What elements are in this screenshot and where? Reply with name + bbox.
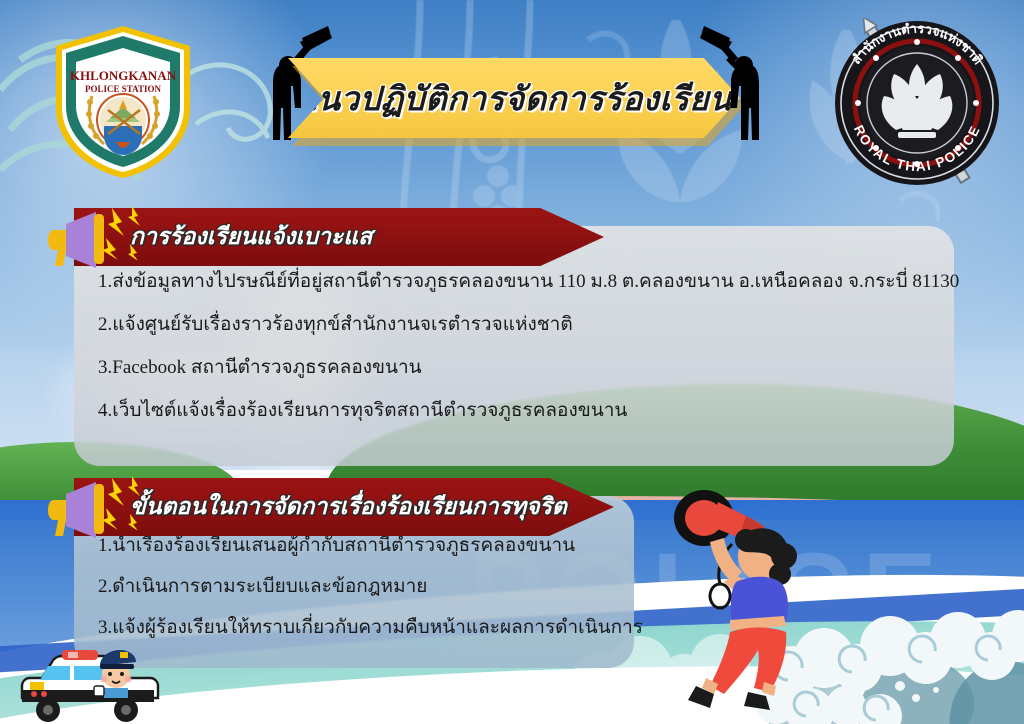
section-heading-ribbon-2: ขั้นตอนในการจัดการเรื่องร้องเรียนการทุจร… bbox=[74, 478, 614, 536]
badge-left-line1: KHLONGKANAN bbox=[70, 68, 177, 83]
poster-root: POLICE bbox=[0, 0, 1024, 724]
badge-left-line2: POLICE STATION bbox=[85, 84, 161, 94]
title-banner: แนวปฏิบัติการจัดการร้องเรียน bbox=[288, 58, 740, 138]
list-item: 2.แจ้งศูนย์รับเรื่องราวร้องทุกข์สำนักงาน… bbox=[98, 315, 926, 334]
woman-shouting-megaphone-illustration bbox=[648, 486, 848, 724]
list-item: 1.นำเรื่องร้องเรียนเสนอผู้กำกับสถานีตำรว… bbox=[98, 536, 606, 555]
section-heading-ribbon-1: การร้องเรียนแจ้งเบาะแส bbox=[74, 208, 604, 266]
section-heading-text-2: ขั้นตอนในการจัดการเรื่องร้องเรียนการทุจร… bbox=[130, 489, 567, 525]
cartoon-police-car-with-officer bbox=[8, 640, 168, 724]
list-item: 2.ดำเนินการตามระเบียบและข้อกฎหมาย bbox=[98, 577, 606, 596]
royal-thai-police-seal-badge: สำนักงานตำรวจแห่งชาติ ROYAL THAI POLICE bbox=[832, 18, 1002, 188]
list-item: 3.แจ้งผู้ร้องเรียนให้ทราบเกี่ยวกับความคื… bbox=[98, 618, 606, 637]
person-with-megaphone-silhouette-right bbox=[700, 22, 790, 162]
spark-icon bbox=[96, 204, 152, 260]
list-item: 1.ส่งข้อมูลทางไปรษณีย์ที่อยู่สถานีตำรวจภ… bbox=[98, 272, 926, 291]
khlongkanan-police-station-shield-badge: KHLONGKANAN POLICE STATION bbox=[48, 22, 198, 182]
section-heading-text-1: การร้องเรียนแจ้งเบาะแส bbox=[130, 219, 372, 255]
page-title: แนวปฏิบัติการจัดการร้องเรียน bbox=[296, 72, 733, 125]
spark-icon bbox=[96, 474, 152, 530]
list-item: 3.Facebook สถานีตำรวจภูธรคลองขนาน bbox=[98, 358, 926, 377]
list-item: 4.เว็บไซต์แจ้งเรื่องร้องเรียนการทุจริตสถ… bbox=[98, 401, 926, 420]
